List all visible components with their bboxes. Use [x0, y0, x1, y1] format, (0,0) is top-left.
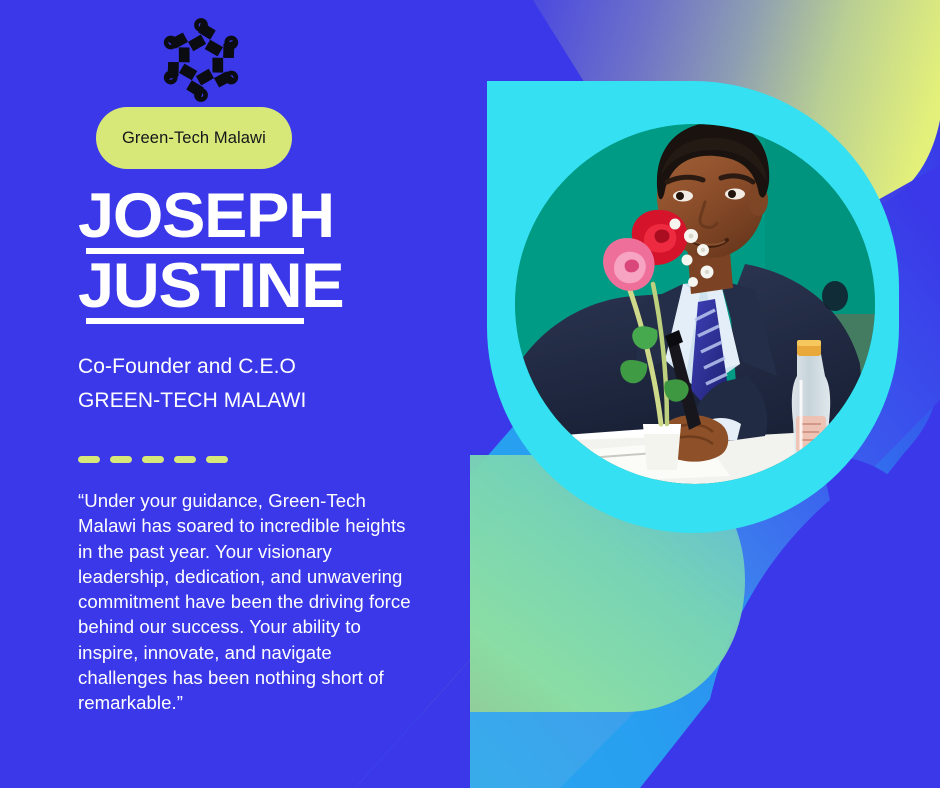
last-name-line: JUSTINE: [78, 258, 303, 316]
divider-dash: [206, 456, 228, 463]
portrait-illustration: [515, 124, 875, 484]
brand-logo: [155, 14, 247, 106]
last-name-text: JUSTINE: [78, 258, 310, 316]
last-name-underline: [86, 318, 304, 324]
divider-dash: [142, 456, 164, 463]
role-line-1: Co-Founder and C.E.O: [78, 350, 306, 384]
testimonial-quote: “Under your guidance, Green-Tech Malawi …: [78, 488, 418, 716]
portrait-frame: [487, 81, 899, 533]
person-name: JOSEPH JUSTINE: [78, 188, 458, 316]
divider-dash: [174, 456, 196, 463]
content-column: Green-Tech Malawi JOSEPH JUSTINE Co-Foun…: [0, 0, 470, 788]
brand-badge-label: Green-Tech Malawi: [122, 129, 266, 148]
brand-badge[interactable]: Green-Tech Malawi: [96, 107, 292, 169]
divider-dash: [110, 456, 132, 463]
portrait-photo: [515, 124, 875, 484]
first-name-line: JOSEPH: [78, 188, 303, 246]
person-role: Co-Founder and C.E.O GREEN-TECH MALAWI: [78, 350, 306, 417]
divider-dash: [78, 456, 100, 463]
poster-canvas: Green-Tech Malawi JOSEPH JUSTINE Co-Foun…: [0, 0, 940, 788]
first-name-text: JOSEPH: [78, 188, 310, 246]
role-line-2: GREEN-TECH MALAWI: [78, 384, 306, 418]
circuit-hexagon-logo-icon: [155, 14, 247, 106]
dash-divider: [78, 456, 228, 463]
